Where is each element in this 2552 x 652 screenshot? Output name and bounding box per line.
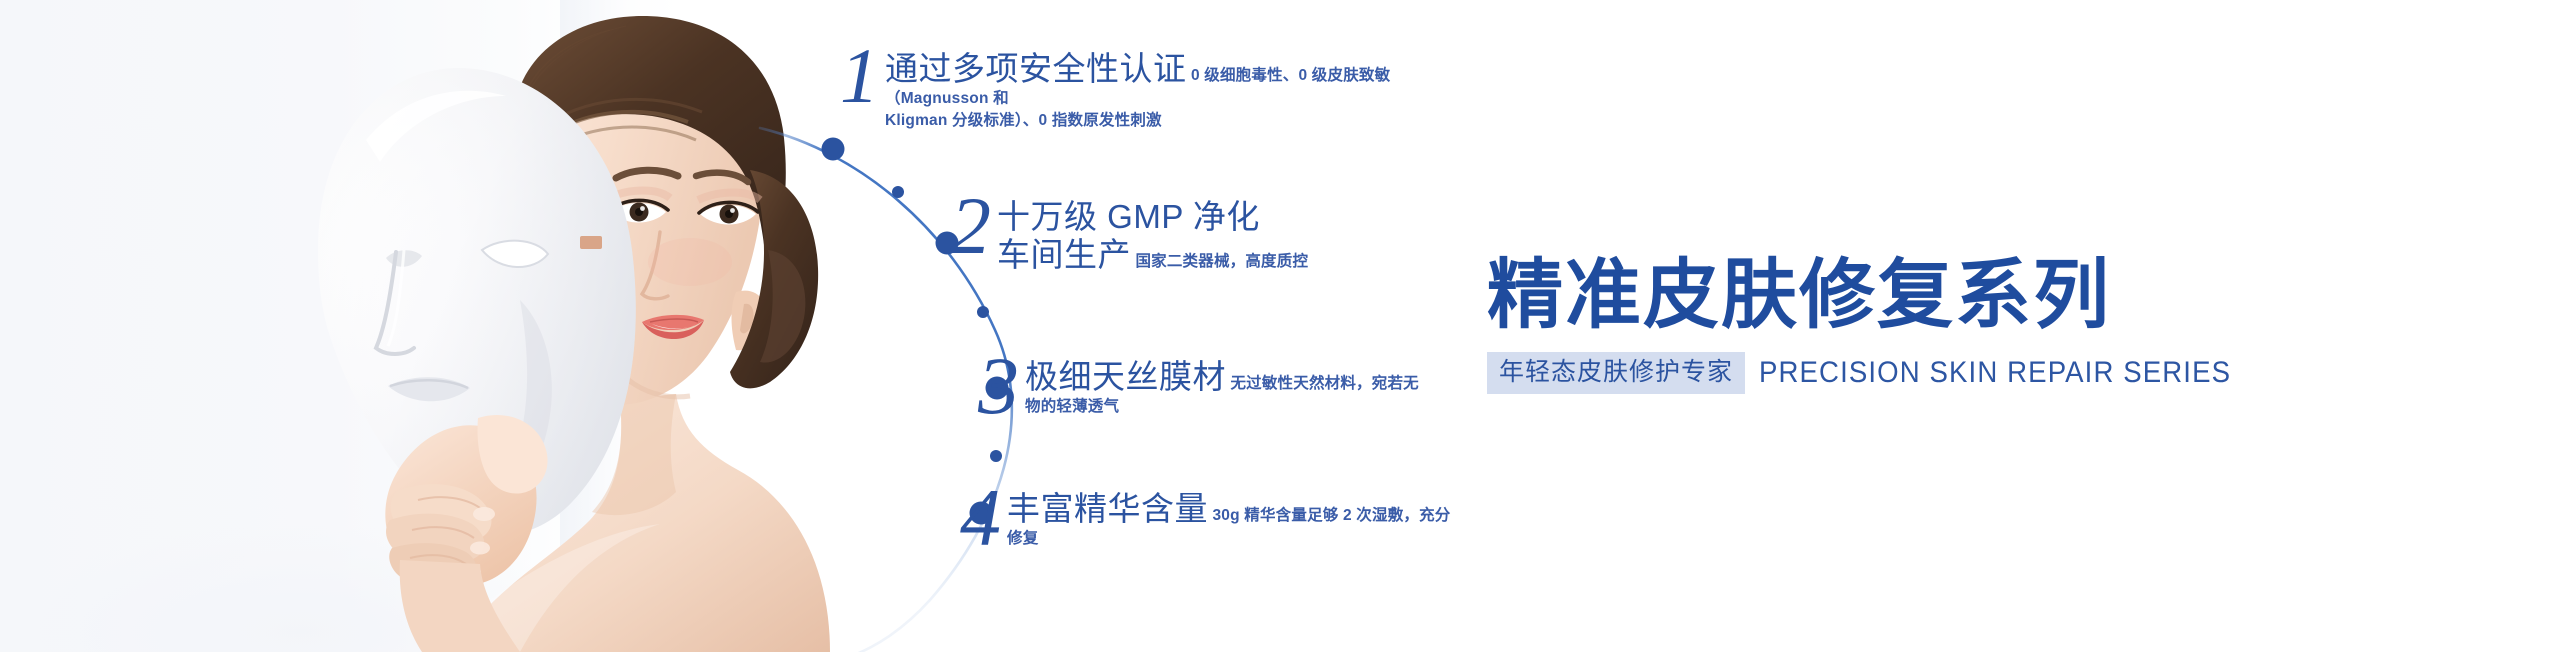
promo-banner: 1 通过多项安全性认证 0 级细胞毒性、0 级皮肤致敏（Magnusson 和 … [0,0,2552,652]
feature-list: 1 通过多项安全性认证 0 级细胞毒性、0 级皮肤致敏（Magnusson 和 … [840,0,1460,652]
model-photo [190,0,890,652]
headline-tag-badge: 年轻态皮肤修护专家 [1487,352,1745,394]
headline-english-title: PRECISION SKIN REPAIR SERIES [1759,358,2231,388]
feature-title: 通过多项安全性认证 [885,50,1187,87]
headline-main-title: 精准皮肤修复系列 [1487,258,2387,334]
feature-item-4: 4 丰富精华含量 30g 精华含量足够 2 次湿敷，充分修复 [960,484,1460,551]
headline-block: 精准皮肤修复系列 年轻态皮肤修护专家 PRECISION SKIN REPAIR… [1487,258,2387,394]
feature-item-1: 1 通过多项安全性认证 0 级细胞毒性、0 级皮肤致敏（Magnusson 和 … [840,44,1460,133]
feature-number: 1 [840,44,877,108]
headline-subtitle-row: 年轻态皮肤修护专家 PRECISION SKIN REPAIR SERIES [1487,352,2387,394]
feature-item-2: 2 十万级 GMP 净化 车间生产 国家二类器械，高度质控 [950,192,1308,273]
feature-title: 极细天丝膜材 [1025,358,1226,395]
feature-title: 丰富精华含量 [1007,490,1208,527]
feature-number: 2 [950,192,989,259]
feature-item-3: 3 极细天丝膜材 无过敏性天然材料，宛若无 物的轻薄透气 [978,352,1419,419]
feature-description: 国家二类器械，高度质控 [1135,253,1308,270]
feature-number: 3 [978,352,1017,419]
feature-number: 4 [960,484,999,551]
